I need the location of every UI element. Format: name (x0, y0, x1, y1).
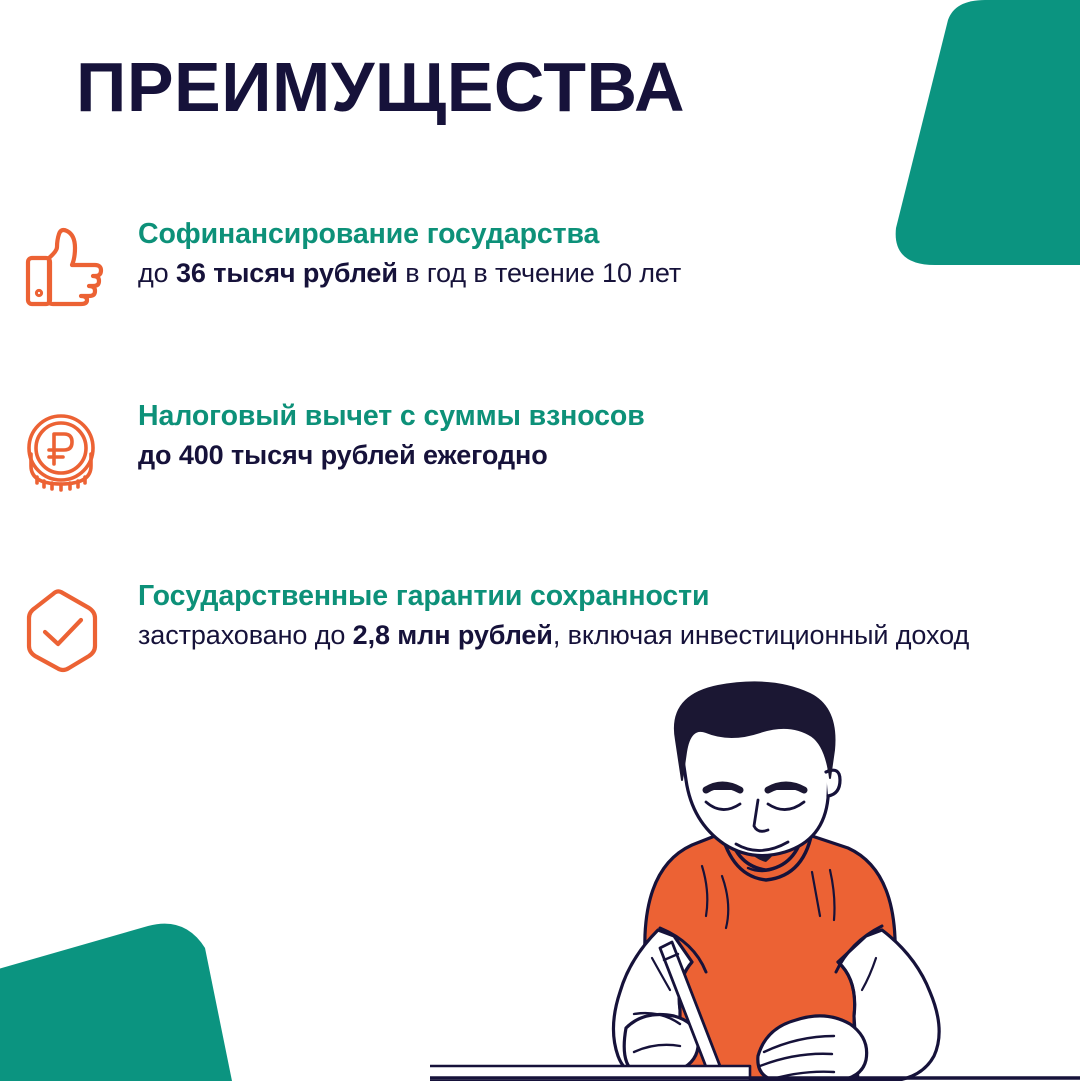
man-writing-illustration (430, 680, 1080, 1081)
benefit-sub-prefix-1: до (138, 258, 176, 288)
benefit-text-1: Софинансирование государства до 36 тысяч… (130, 218, 1000, 291)
benefit-subtitle-1: до 36 тысяч рублей в год в течение 10 ле… (138, 256, 1000, 292)
benefit-sub-suffix-3: , включая инвестиционный доход (553, 620, 969, 650)
benefit-text-3: Государственные гарантии сохранности зас… (130, 580, 1000, 653)
page-title: ПРЕИМУЩЕСТВА (76, 52, 685, 122)
benefit-title-1: Софинансирование государства (138, 218, 1000, 252)
hexagon-check-icon (0, 580, 130, 680)
benefit-subtitle-2: до 400 тысяч рублей ежегодно (138, 438, 1000, 474)
benefit-subtitle-3: застраховано до 2,8 млн рублей, включая … (138, 618, 1000, 654)
benefit-item-3: Государственные гарантии сохранности зас… (0, 580, 1000, 680)
teal-shape-bottom-left (0, 924, 232, 1081)
benefit-text-2: Налоговый вычет с суммы взносов до 400 т… (130, 400, 1000, 473)
benefit-sub-bold-1: 36 тысяч рублей (176, 258, 398, 288)
benefit-sub-bold-2: до 400 тысяч рублей ежегодно (138, 440, 548, 470)
benefit-sub-bold-3: 2,8 млн рублей (353, 620, 553, 650)
benefit-item-2: Налоговый вычет с суммы взносов до 400 т… (0, 400, 1000, 496)
benefit-sub-prefix-3: застраховано до (138, 620, 353, 650)
poster-canvas: ПРЕИМУЩЕСТВА Софинансирование государств… (0, 0, 1080, 1081)
benefit-title-3: Государственные гарантии сохранности (138, 580, 1000, 614)
ruble-coin-icon (0, 400, 130, 496)
thumbs-up-icon (0, 218, 130, 310)
benefit-sub-suffix-1: в год в течение 10 лет (398, 258, 681, 288)
benefit-title-2: Налоговый вычет с суммы взносов (138, 400, 1000, 434)
benefit-item-1: Софинансирование государства до 36 тысяч… (0, 218, 1000, 310)
